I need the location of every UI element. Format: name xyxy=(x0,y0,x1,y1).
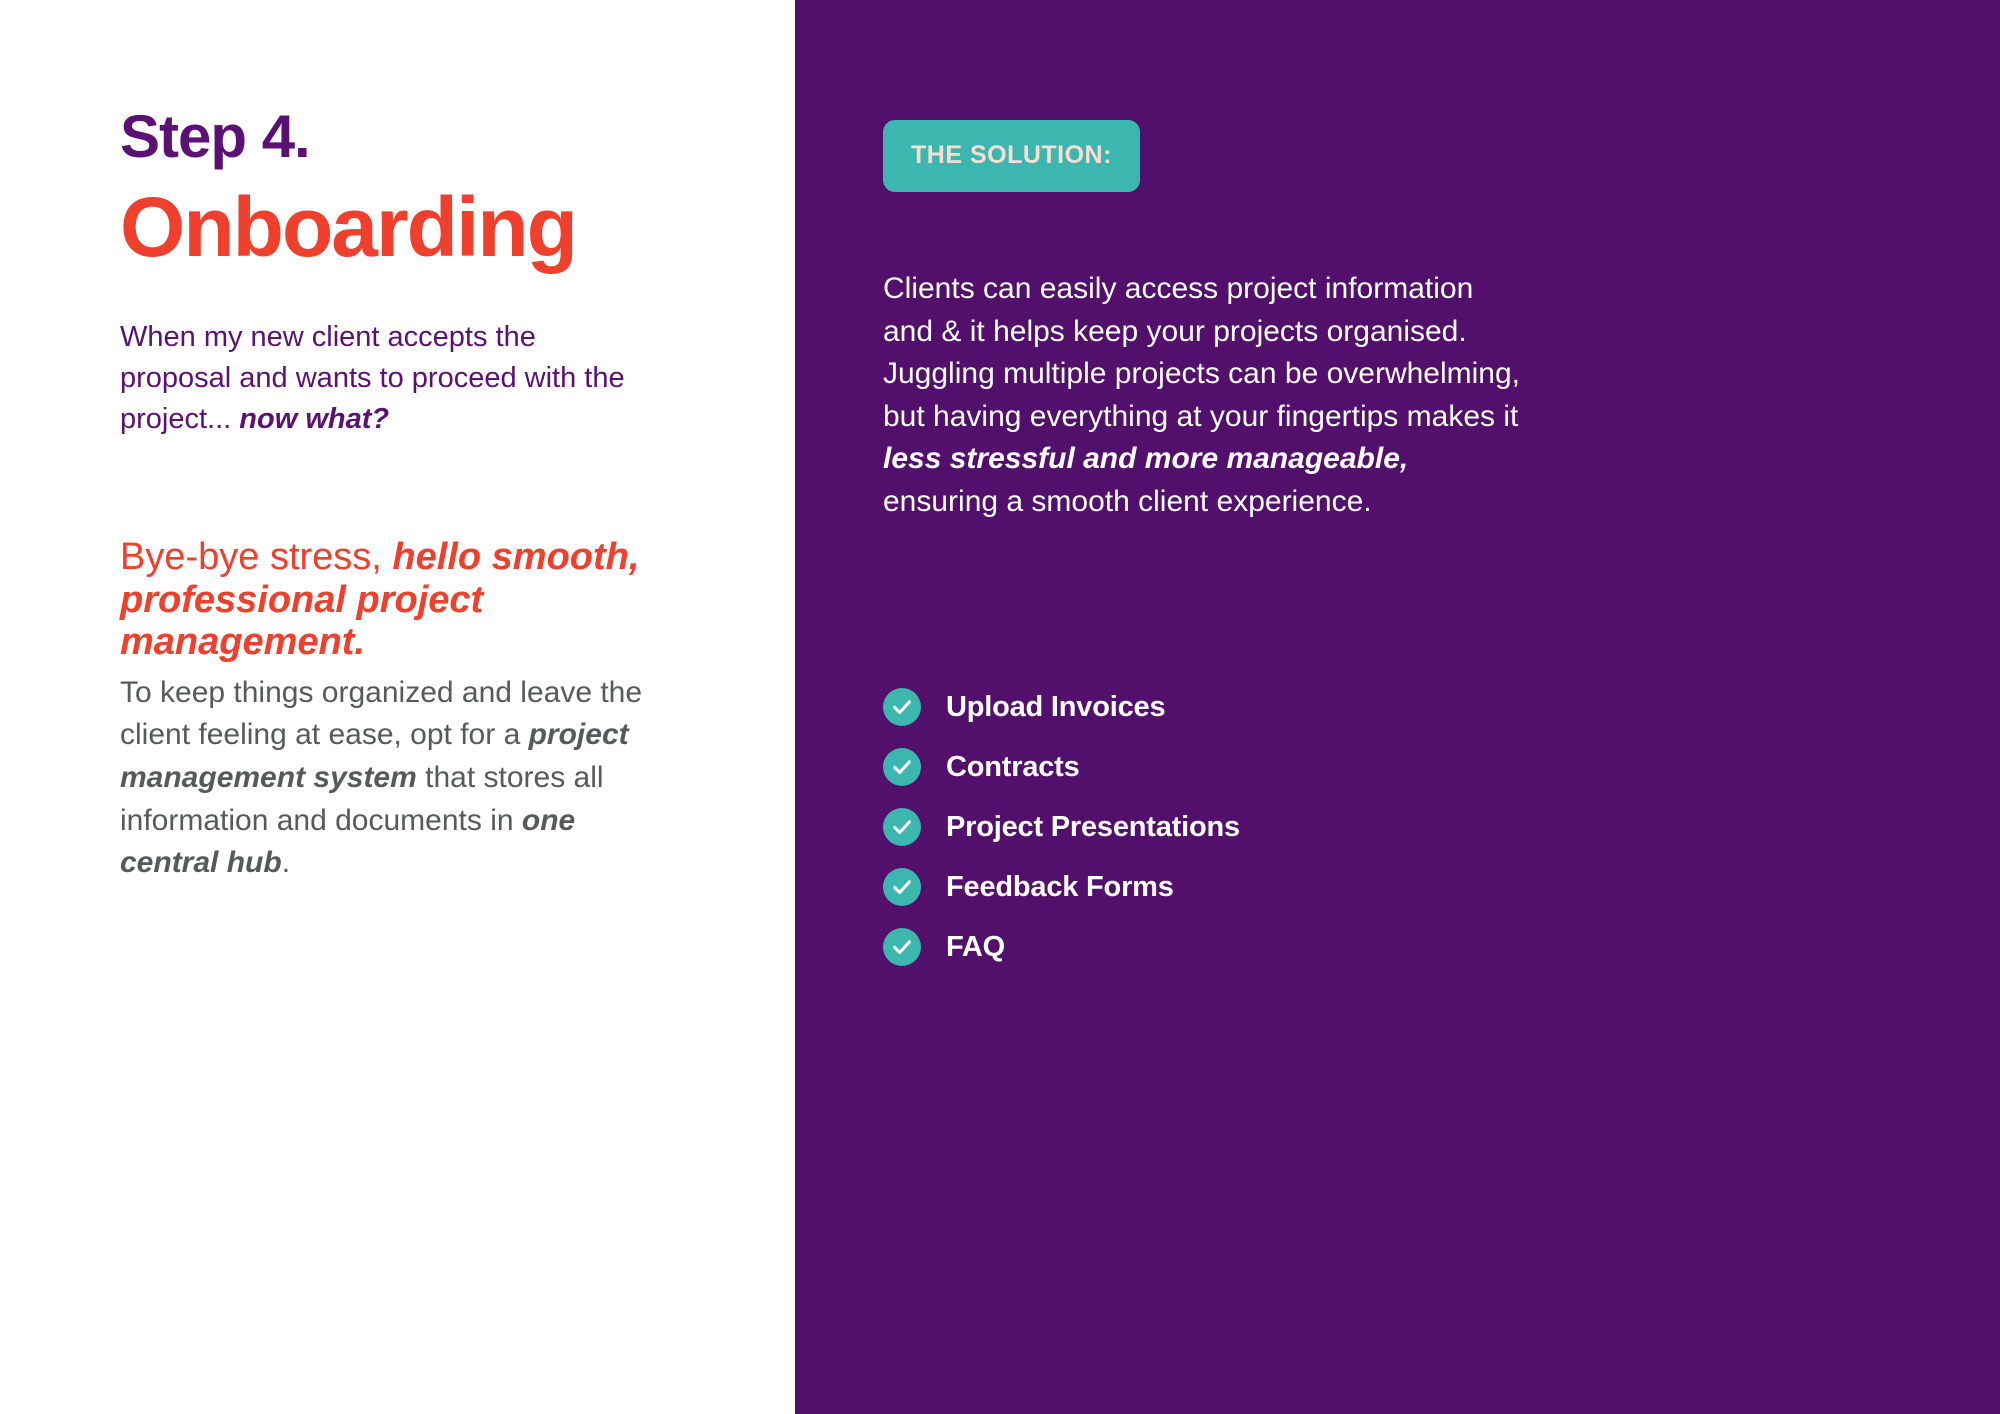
check-icon xyxy=(883,928,921,966)
list-item: Feedback Forms xyxy=(883,868,1240,906)
solution-emphasis: less stressful and more manageable, xyxy=(883,442,1408,475)
check-icon xyxy=(883,748,921,786)
slide-root: Step 4. Onboarding When my new client ac… xyxy=(0,0,2000,1414)
check-icon xyxy=(883,868,921,906)
list-item: Contracts xyxy=(883,748,1240,786)
stress-plain-text: Bye-bye stress, xyxy=(120,536,392,578)
intro-emphasis: now what? xyxy=(239,403,389,435)
check-icon xyxy=(883,808,921,846)
list-item: FAQ xyxy=(883,928,1240,966)
stress-headline: Bye-bye stress, hello smooth, profession… xyxy=(120,536,640,664)
left-content-column: Step 4. Onboarding When my new client ac… xyxy=(0,0,795,1414)
intro-paragraph: When my new client accepts the proposal … xyxy=(120,317,650,441)
list-item-label: Upload Invoices xyxy=(946,691,1165,724)
list-item-label: Feedback Forms xyxy=(946,871,1174,904)
step-label: Step 4. xyxy=(120,105,795,168)
closing-paragraph: To keep things organized and leave the c… xyxy=(120,672,665,885)
solution-panel: THE SOLUTION: Clients can easily access … xyxy=(795,0,2000,1414)
solution-text-2: ensuring a smooth client experience. xyxy=(883,485,1372,518)
list-item: Upload Invoices xyxy=(883,688,1240,726)
page-title: Onboarding xyxy=(120,182,795,273)
check-icon xyxy=(883,688,921,726)
list-item-label: Contracts xyxy=(946,751,1080,784)
status-badge: THE SOLUTION: xyxy=(883,120,1140,192)
closing-text-3: . xyxy=(282,846,290,879)
list-item-label: Project Presentations xyxy=(946,811,1240,844)
solution-text-1: Clients can easily access project inform… xyxy=(883,272,1520,433)
list-item: Project Presentations xyxy=(883,808,1240,846)
solution-paragraph: Clients can easily access project inform… xyxy=(883,268,1523,524)
feature-checklist: Upload Invoices Contracts Project Presen… xyxy=(883,688,1240,988)
list-item-label: FAQ xyxy=(946,931,1005,964)
